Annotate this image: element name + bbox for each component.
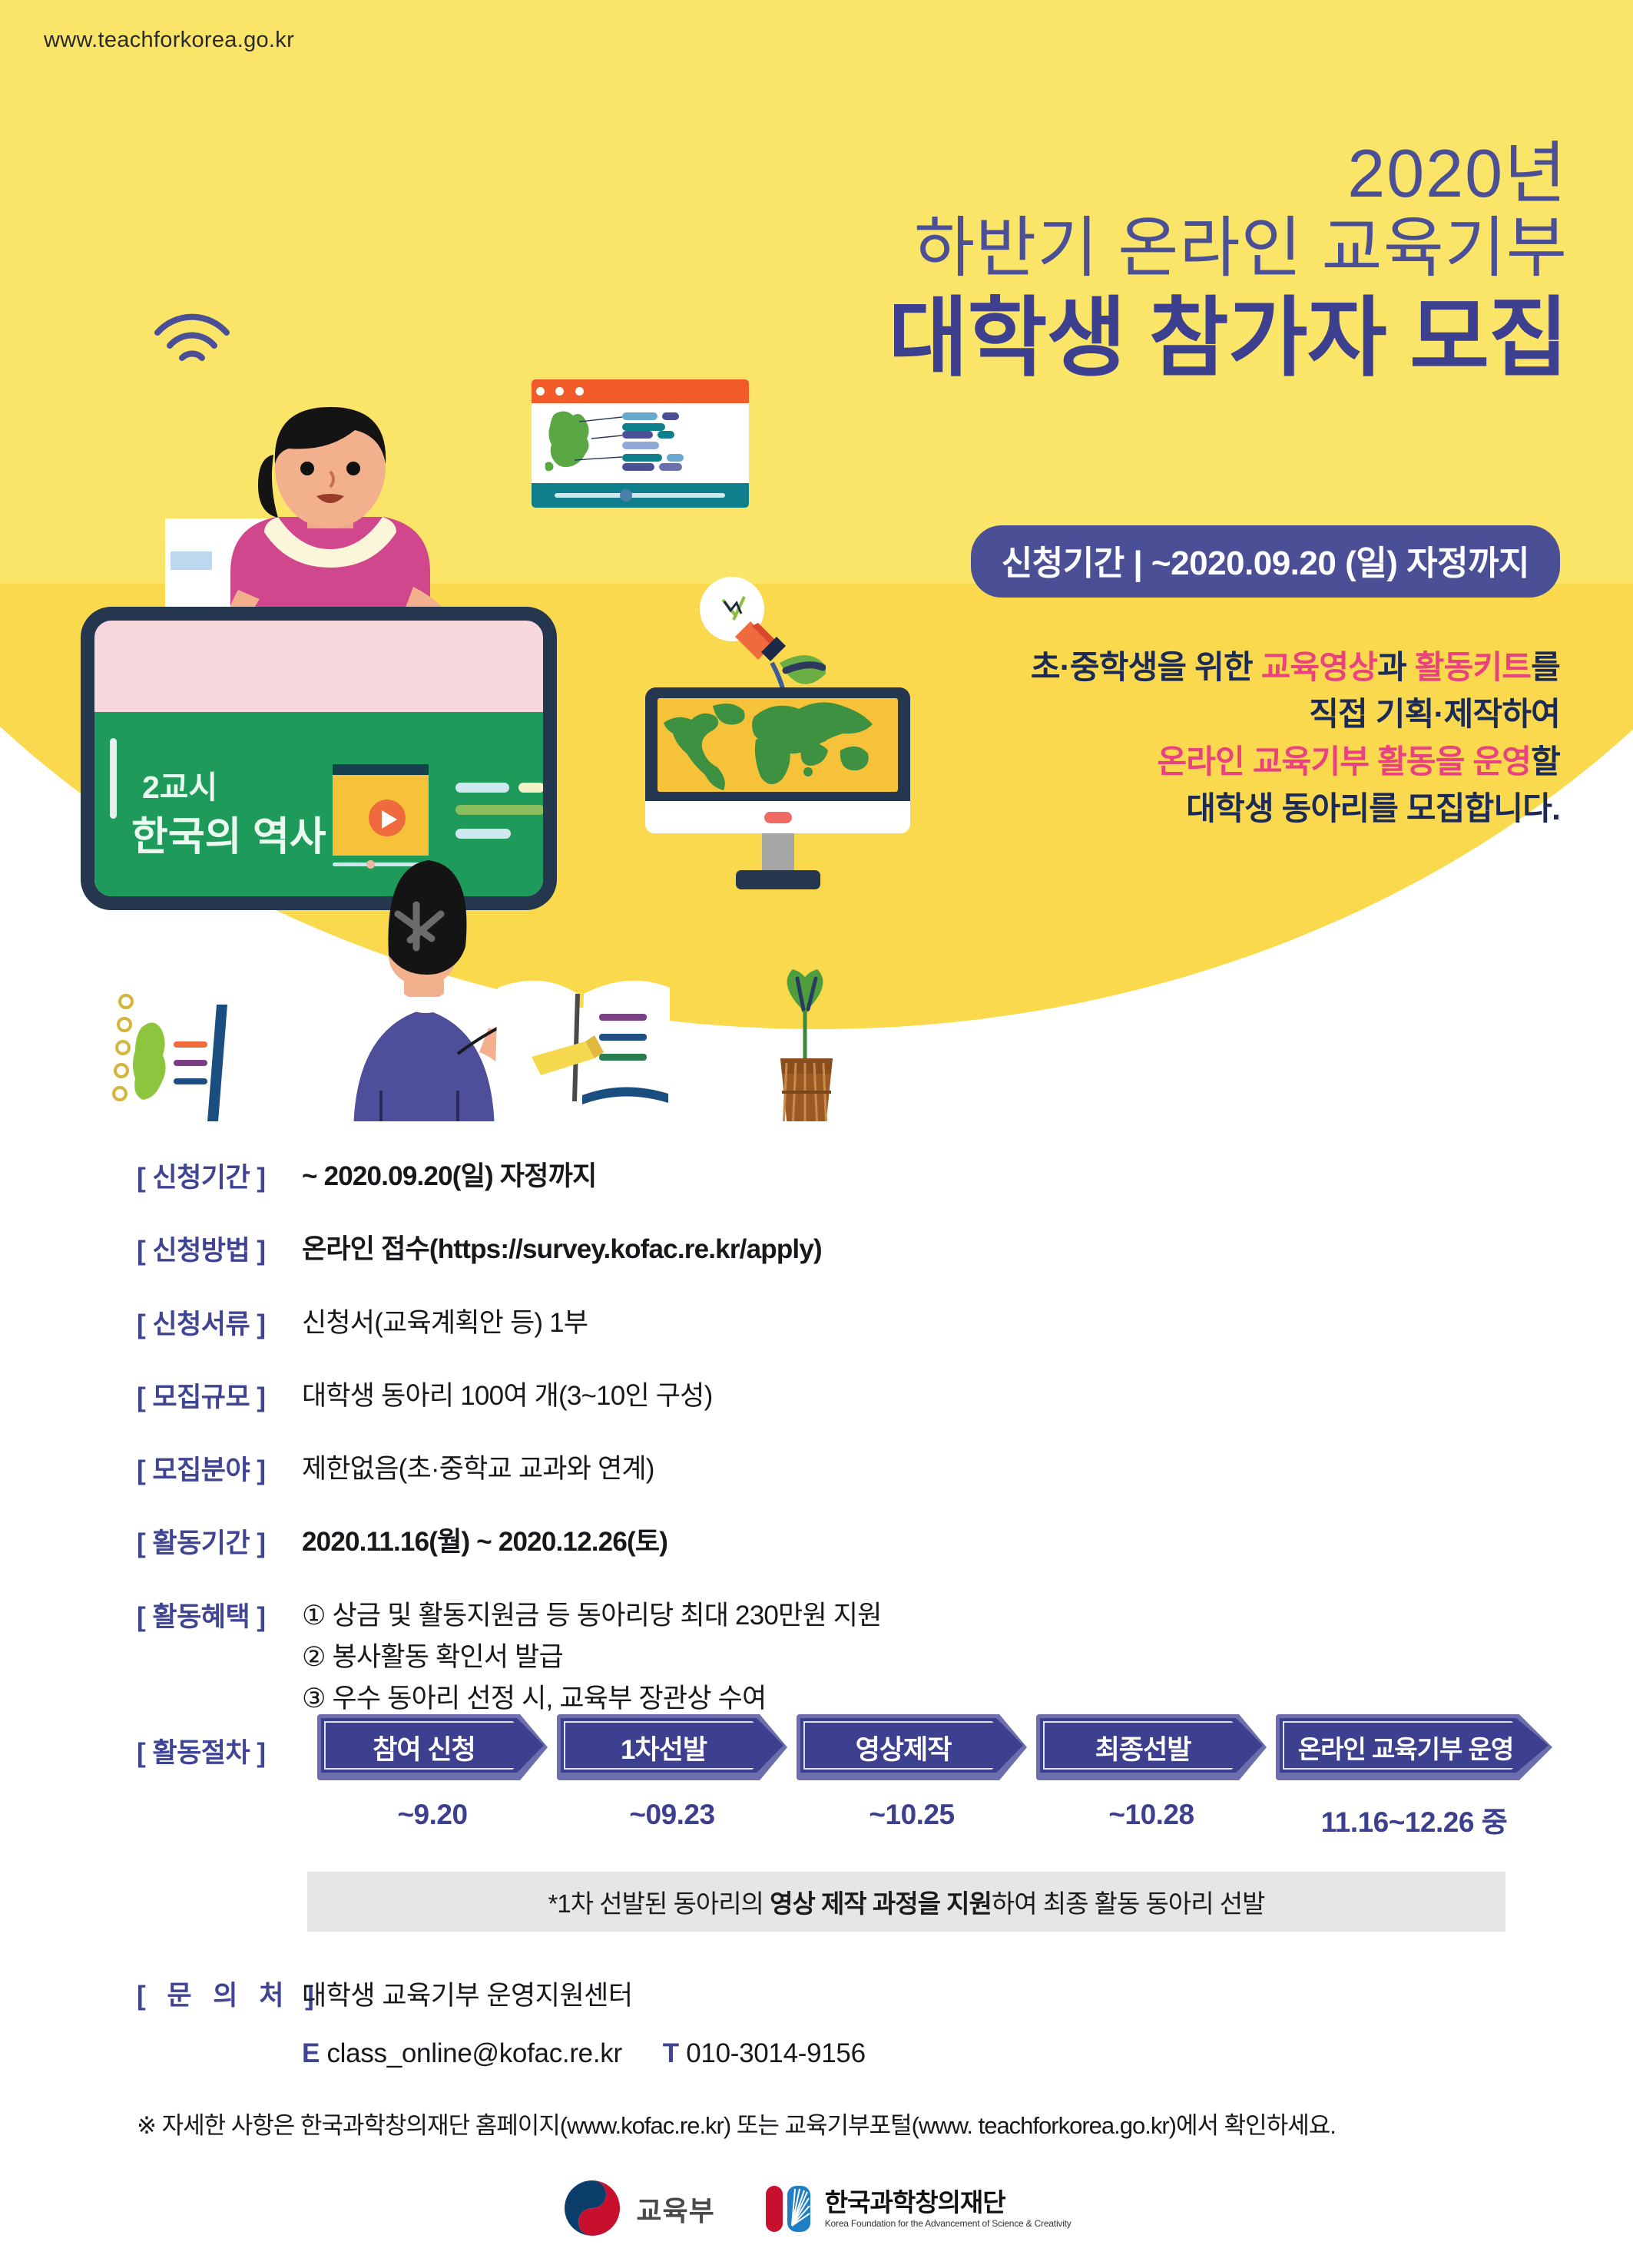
hero-description-segment: 교육영상 <box>1261 649 1377 685</box>
hero-description-segment: 온라인 교육기부 활동을 운영 <box>1157 743 1531 780</box>
info-row: [ 신청서류 ]신청서(교육계획안 등) 1부 <box>137 1303 1212 1344</box>
hero-description-segment: 를 <box>1531 649 1560 685</box>
info-row-value: 2020.11.16(월) ~ 2020.12.26(토) <box>302 1521 667 1563</box>
process-step-3: 영상제작 <box>797 1714 1027 1780</box>
lightbulb-icon <box>687 572 826 695</box>
tel-value: 010-3014-9156 <box>686 2038 866 2068</box>
moe-logo: 교육부 <box>561 2177 714 2240</box>
hero-description-line: 초·중학생을 위한 교육영상과 활동키트를 <box>1031 644 1560 690</box>
process-step-5: 온라인 교육기부 운영 <box>1276 1714 1552 1780</box>
world-map-screen <box>658 698 898 792</box>
process-step-date: ~10.25 <box>797 1799 1027 1840</box>
hero-description-segment: 대학생 동아리를 모집합니다. <box>1186 790 1560 826</box>
chalk-bar <box>455 829 511 839</box>
hero-description-line: 직접 기획·제작하여 <box>1031 690 1560 737</box>
process-label: [ 활동절차 ] <box>137 1731 266 1770</box>
info-row-value: 제한없음(초·중학교 교과와 연계) <box>302 1449 654 1490</box>
moe-taegeuk-icon <box>561 2177 623 2240</box>
note-post: 하여 최종 활동 동아리 선발 <box>992 1889 1265 1918</box>
note-bold: 영상 제작 과정을 지원 <box>770 1889 992 1918</box>
process-note-text: *1차 선발된 동아리의 영상 제작 과정을 지원하여 최종 활동 동아리 선발 <box>548 1883 1265 1920</box>
open-notebook-illustration <box>492 960 676 1114</box>
hero-description-segment: 직접 기획·제작하여 <box>1309 696 1560 732</box>
info-row: [ 모집분야 ]제한없음(초·중학교 교과와 연계) <box>137 1449 1212 1490</box>
info-row-label: [ 활동기간 ] <box>137 1521 302 1561</box>
kofac-symbol-icon <box>764 2181 812 2237</box>
contact-details: E class_online@kofac.re.kr T 010-3014-91… <box>302 2038 1289 2069</box>
chalk-bar <box>518 783 545 793</box>
info-row-value: ~ 2020.09.20(일) 자정까지 <box>302 1156 596 1197</box>
info-row-value: 신청서(교육계획안 등) 1부 <box>302 1303 588 1344</box>
info-row-label: [ 신청서류 ] <box>137 1303 302 1342</box>
video-thumbnail <box>333 775 429 856</box>
info-row-label: [ 신청기간 ] <box>137 1156 302 1195</box>
site-url: www.teachforkorea.go.kr <box>44 28 294 53</box>
sketchpad-illustration <box>108 975 246 1121</box>
hero-description-segment: 초·중학생을 위한 <box>1031 649 1261 685</box>
process-step-date: ~10.28 <box>1036 1799 1267 1840</box>
poster-root: 2교시 한국의 역사 <box>0 0 1633 2268</box>
contact-section: [ 문 의 처 ] 대학생 교육기부 운영지원센터 E class_online… <box>137 1974 1289 2069</box>
process-step-1: 참여 신청 <box>317 1714 548 1780</box>
info-row-value: 대학생 동아리 100여 개(3~10인 구성) <box>302 1376 712 1417</box>
info-row: [ 신청방법 ]온라인 접수(https://survey.kofac.re.k… <box>137 1229 1212 1270</box>
logo-row: 교육부 한국과학창의재단 Korea Foundation for the Ad… <box>0 2177 1633 2240</box>
tablet-side-line <box>110 738 117 819</box>
process-step-label: 1차선발 <box>557 1714 787 1780</box>
monitor-foot <box>736 870 820 889</box>
title-block: 2020년 하반기 온라인 교육기부 대학생 참가자 모집 <box>889 138 1568 387</box>
email-value: class_online@kofac.re.kr <box>326 2038 621 2068</box>
title-main: 대학생 참가자 모집 <box>889 290 1568 387</box>
info-row-value-line: ② 봉사활동 확인서 발급 <box>302 1637 882 1678</box>
browser-titlebar <box>532 379 749 403</box>
monitor-screen <box>645 687 910 813</box>
chalkboard-line2: 한국의 역사 <box>131 804 326 862</box>
contact-label: [ 문 의 처 ] <box>137 1974 302 2013</box>
monitor-neck <box>762 833 794 873</box>
process-step-date: 11.16~12.26 중 <box>1276 1799 1552 1840</box>
browser-progress-slider <box>555 493 725 498</box>
process-step-date: ~09.23 <box>557 1799 787 1840</box>
contact-row: [ 문 의 처 ] 대학생 교육기부 운영지원센터 <box>137 1974 1289 2013</box>
note-pre: *1차 선발된 동아리의 <box>548 1889 770 1918</box>
info-row-label: [ 활동혜택 ] <box>137 1595 302 1634</box>
korea-map-chart <box>532 403 749 483</box>
hero-section: 2교시 한국의 역사 <box>0 0 1633 1121</box>
process-step-4: 최종선발 <box>1036 1714 1267 1780</box>
process-step-label: 영상제작 <box>797 1714 1027 1780</box>
hero-description: 초·중학생을 위한 교육영상과 활동키트를직접 기획·제작하여온라인 교육기부 … <box>1031 644 1560 832</box>
process-chevrons: 참여 신청1차선발영상제작최종선발온라인 교육기부 운영 <box>317 1714 1552 1780</box>
application-period-badge: 신청기간 | ~2020.09.20 (일) 자정까지 <box>971 525 1560 598</box>
email-label: E <box>302 2038 320 2068</box>
info-row-value: ① 상금 및 활동지원금 등 동아리당 최대 230만원 지원② 봉사활동 확인… <box>302 1595 882 1720</box>
hero-description-segment: 할 <box>1531 743 1560 780</box>
process-step-2: 1차선발 <box>557 1714 787 1780</box>
wifi-icon <box>150 307 234 369</box>
kofac-label: 한국과학창의재단 Korea Foundation for the Advanc… <box>825 2190 1072 2228</box>
browser-dot <box>575 387 584 396</box>
process-step-label: 온라인 교육기부 운영 <box>1276 1714 1552 1780</box>
chalk-bar <box>455 783 509 793</box>
process-step-label: 참여 신청 <box>317 1714 548 1780</box>
play-triangle-icon <box>382 810 397 829</box>
process-dates: ~9.20~09.23~10.25~10.2811.16~12.26 중 <box>317 1799 1552 1840</box>
info-row-label: [ 신청방법 ] <box>137 1229 302 1268</box>
info-row: [ 활동기간 ]2020.11.16(월) ~ 2020.12.26(토) <box>137 1521 1212 1563</box>
potted-plant-illustration <box>753 968 860 1121</box>
contact-org: 대학생 교육기부 운영지원센터 <box>302 1974 633 2013</box>
info-row: [ 활동혜택 ]① 상금 및 활동지원금 등 동아리당 최대 230만원 지원②… <box>137 1595 1212 1720</box>
title-subtitle: 하반기 온라인 교육기부 <box>889 210 1568 286</box>
chalkboard-line1: 2교시 <box>142 761 217 807</box>
process-note-bar: *1차 선발된 동아리의 영상 제작 과정을 지원하여 최종 활동 동아리 선발 <box>307 1872 1505 1932</box>
browser-window-illustration <box>532 379 749 508</box>
monitor-power-button <box>764 812 792 823</box>
monitor-illustration <box>645 687 910 853</box>
browser-dot <box>536 387 545 396</box>
hero-description-segment: 활동키트 <box>1415 649 1531 685</box>
browser-dot <box>555 387 564 396</box>
tel-label: T <box>663 2038 679 2068</box>
info-row-label: [ 모집분야 ] <box>137 1449 302 1488</box>
hero-description-line: 대학생 동아리를 모집합니다. <box>1031 785 1560 832</box>
footnote-text: ※ 자세한 사항은 한국과학창의재단 홈페이지(www.kofac.re.kr)… <box>137 2106 1336 2141</box>
moe-label: 교육부 <box>636 2189 714 2229</box>
info-row-value: 온라인 접수(https://survey.kofac.re.kr/apply) <box>302 1229 822 1270</box>
process-step-label: 최종선발 <box>1036 1714 1267 1780</box>
info-list: [ 신청기간 ]~ 2020.09.20(일) 자정까지[ 신청방법 ]온라인 … <box>137 1156 1212 1751</box>
info-row-label: [ 모집규모 ] <box>137 1376 302 1415</box>
title-year: 2020년 <box>889 138 1568 209</box>
info-row: [ 신청기간 ]~ 2020.09.20(일) 자정까지 <box>137 1156 1212 1197</box>
kofac-name-kr: 한국과학창의재단 <box>825 2190 1072 2215</box>
chalk-bar <box>455 805 545 815</box>
world-map-icon <box>658 698 898 792</box>
kofac-logo: 한국과학창의재단 Korea Foundation for the Advanc… <box>764 2181 1072 2237</box>
hero-description-segment: 과 <box>1377 649 1415 685</box>
kofac-name-en: Korea Foundation for the Advancement of … <box>825 2219 1072 2228</box>
info-row: [ 모집규모 ]대학생 동아리 100여 개(3~10인 구성) <box>137 1376 1212 1417</box>
hero-description-line: 온라인 교육기부 활동을 운영할 <box>1031 738 1560 785</box>
process-step-date: ~9.20 <box>317 1799 548 1840</box>
info-row-value-line: ① 상금 및 활동지원금 등 동아리당 최대 230만원 지원 <box>302 1595 882 1637</box>
